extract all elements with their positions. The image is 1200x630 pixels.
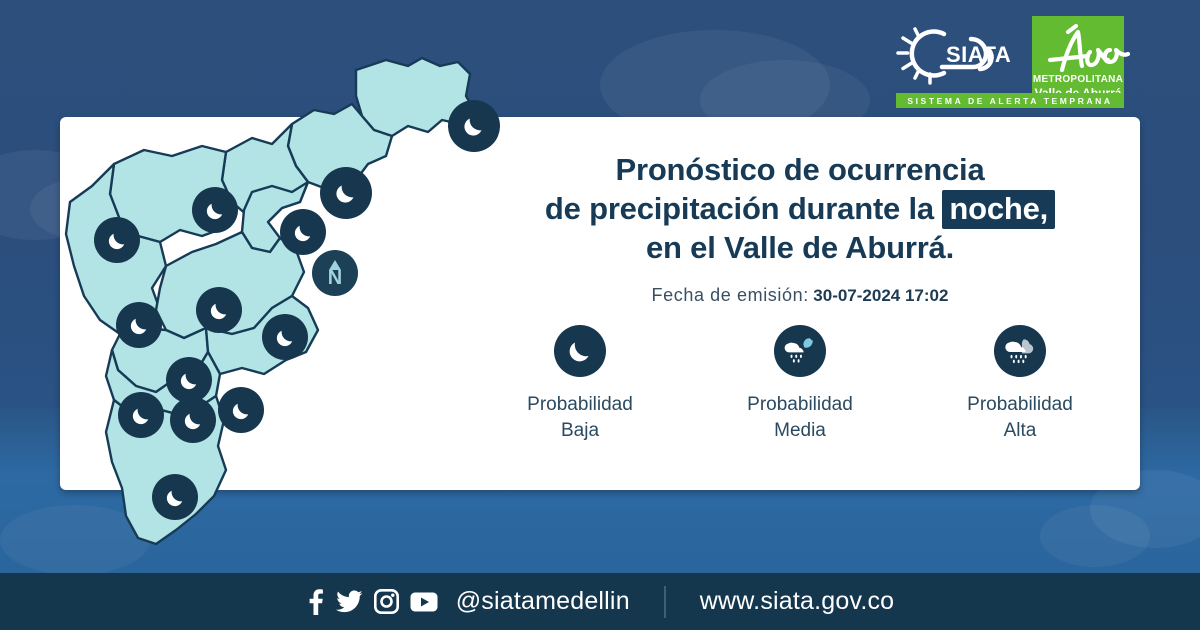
- youtube-icon[interactable]: [410, 592, 438, 612]
- legend-label-media-line1: Probabilidad: [747, 392, 853, 418]
- moon-icon: [272, 324, 299, 351]
- marker-bello-norte: [192, 187, 238, 233]
- title-highlight-noche: noche,: [942, 190, 1055, 229]
- marker-la-estrella: [218, 387, 264, 433]
- tagline-bar: SISTEMA DE ALERTA TEMPRANA: [896, 93, 1124, 108]
- moon-icon: [176, 367, 203, 394]
- probability-legend: Probabilidad Baja Probabilidad: [470, 325, 1130, 444]
- marker-girardota: [320, 167, 372, 219]
- siata-wordmark: SIATA: [946, 42, 1011, 67]
- marker-copacabana: [280, 209, 326, 255]
- marker-san-pedro: [94, 217, 140, 263]
- moon-icon: [202, 197, 229, 224]
- legend-icon-wrap-media: [774, 325, 826, 377]
- background-cloud-6: [1040, 505, 1150, 567]
- infographic-canvas: SIATA METROPOLITANA Valle de Aburrá SIST…: [0, 0, 1200, 630]
- emission-date-label: Fecha de emisión:: [652, 285, 809, 305]
- instagram-icon[interactable]: [374, 589, 399, 614]
- legend-label-media-line2: Media: [774, 418, 826, 444]
- page-title: Pronóstico de ocurrencia de precipitació…: [470, 150, 1130, 267]
- website-url[interactable]: www.siata.gov.co: [700, 587, 894, 616]
- moon-icon: [331, 178, 361, 208]
- twitter-icon[interactable]: [336, 590, 363, 613]
- legend-item-media: Probabilidad Media: [705, 325, 895, 444]
- emission-date: Fecha de emisión: 30-07-2024 17:02: [470, 285, 1130, 306]
- legend-item-baja: Probabilidad Baja: [485, 325, 675, 444]
- footer-content: @siatamedellin www.siata.gov.co: [306, 586, 895, 618]
- marker-caldas: [152, 474, 198, 520]
- moon-icon: [228, 397, 255, 424]
- moon-icon: [126, 312, 153, 339]
- legend-label-baja-line1: Probabilidad: [527, 392, 633, 418]
- facebook-icon[interactable]: [306, 588, 325, 615]
- footer-divider: [664, 586, 666, 618]
- footer-bar: @siatamedellin www.siata.gov.co: [0, 573, 1200, 630]
- legend-label-alta-line1: Probabilidad: [967, 392, 1073, 418]
- legend-icon-wrap-alta: [994, 325, 1046, 377]
- marker-medellin-centro: [262, 314, 308, 360]
- heavy-rain-cloud-icon: [1003, 334, 1037, 368]
- compass-label: N: [328, 270, 342, 286]
- moon-icon: [128, 402, 155, 429]
- north-compass: N: [312, 250, 358, 296]
- social-handle[interactable]: @siatamedellin: [456, 587, 630, 616]
- moon-icon: [180, 407, 207, 434]
- valle-de-aburra-map: N: [56, 52, 476, 572]
- forecast-text-panel: Pronóstico de ocurrencia de precipitació…: [470, 150, 1130, 306]
- moon-icon: [564, 335, 596, 367]
- legend-icon-wrap-baja: [554, 325, 606, 377]
- marker-sabaneta: [118, 392, 164, 438]
- title-line-2-text: de precipitación durante la: [545, 191, 934, 226]
- legend-item-alta: Probabilidad Alta: [925, 325, 1115, 444]
- emission-date-value: 30-07-2024 17:02: [813, 286, 948, 305]
- title-line-2: de precipitación durante la noche,: [470, 189, 1130, 228]
- social-icons: [306, 588, 438, 615]
- moon-icon: [290, 219, 317, 246]
- moon-icon: [104, 227, 131, 254]
- moon-icon: [459, 111, 489, 141]
- title-line-3: en el Valle de Aburrá.: [470, 228, 1130, 267]
- siata-logo: SIATA: [896, 20, 1026, 92]
- rain-cloud-moon-icon: [783, 334, 817, 368]
- marker-medellin-noroccidente: [116, 302, 162, 348]
- title-line-1: Pronóstico de ocurrencia: [470, 150, 1130, 189]
- marker-itagui: [166, 357, 212, 403]
- legend-label-alta-line2: Alta: [1004, 418, 1037, 444]
- tagline-text: SISTEMA DE ALERTA TEMPRANA: [907, 96, 1112, 106]
- marker-barbosa: [448, 100, 500, 152]
- marker-bello: [196, 287, 242, 333]
- marker-envigado: [170, 397, 216, 443]
- area-script-icon: [1032, 20, 1132, 76]
- area-subtitle-1: METROPOLITANA: [1032, 74, 1124, 85]
- moon-icon: [162, 484, 189, 511]
- legend-label-baja-line2: Baja: [561, 418, 599, 444]
- moon-icon: [206, 297, 233, 324]
